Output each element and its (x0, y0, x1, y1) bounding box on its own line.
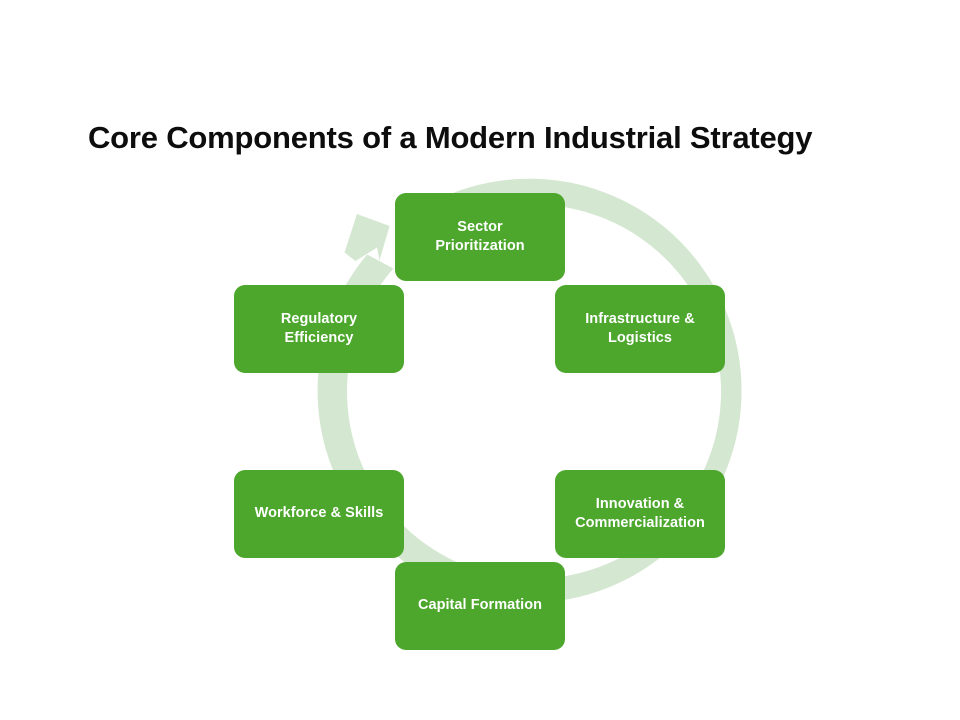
cycle-node-innovation-commercialization[interactable]: Innovation & Commercialization (555, 470, 725, 558)
cycle-node-label: Capital Formation (418, 596, 542, 615)
cycle-node-regulatory-efficiency[interactable]: Regulatory Efficiency (234, 285, 404, 373)
cycle-arrowhead (345, 214, 390, 261)
slide-canvas: Core Components of a Modern Industrial S… (0, 0, 960, 720)
cycle-diagram: Sector Prioritization Infrastructure & L… (0, 0, 960, 720)
cycle-node-capital-formation[interactable]: Capital Formation (395, 562, 565, 650)
cycle-node-workforce-skills[interactable]: Workforce & Skills (234, 470, 404, 558)
cycle-node-sector-prioritization[interactable]: Sector Prioritization (395, 193, 565, 281)
cycle-node-label: Sector Prioritization (435, 218, 524, 257)
cycle-node-infrastructure-logistics[interactable]: Infrastructure & Logistics (555, 285, 725, 373)
cycle-node-label: Innovation & Commercialization (575, 495, 705, 534)
cycle-node-label: Regulatory Efficiency (281, 310, 357, 349)
cycle-node-label: Infrastructure & Logistics (585, 310, 695, 349)
cycle-node-label: Workforce & Skills (255, 504, 384, 523)
